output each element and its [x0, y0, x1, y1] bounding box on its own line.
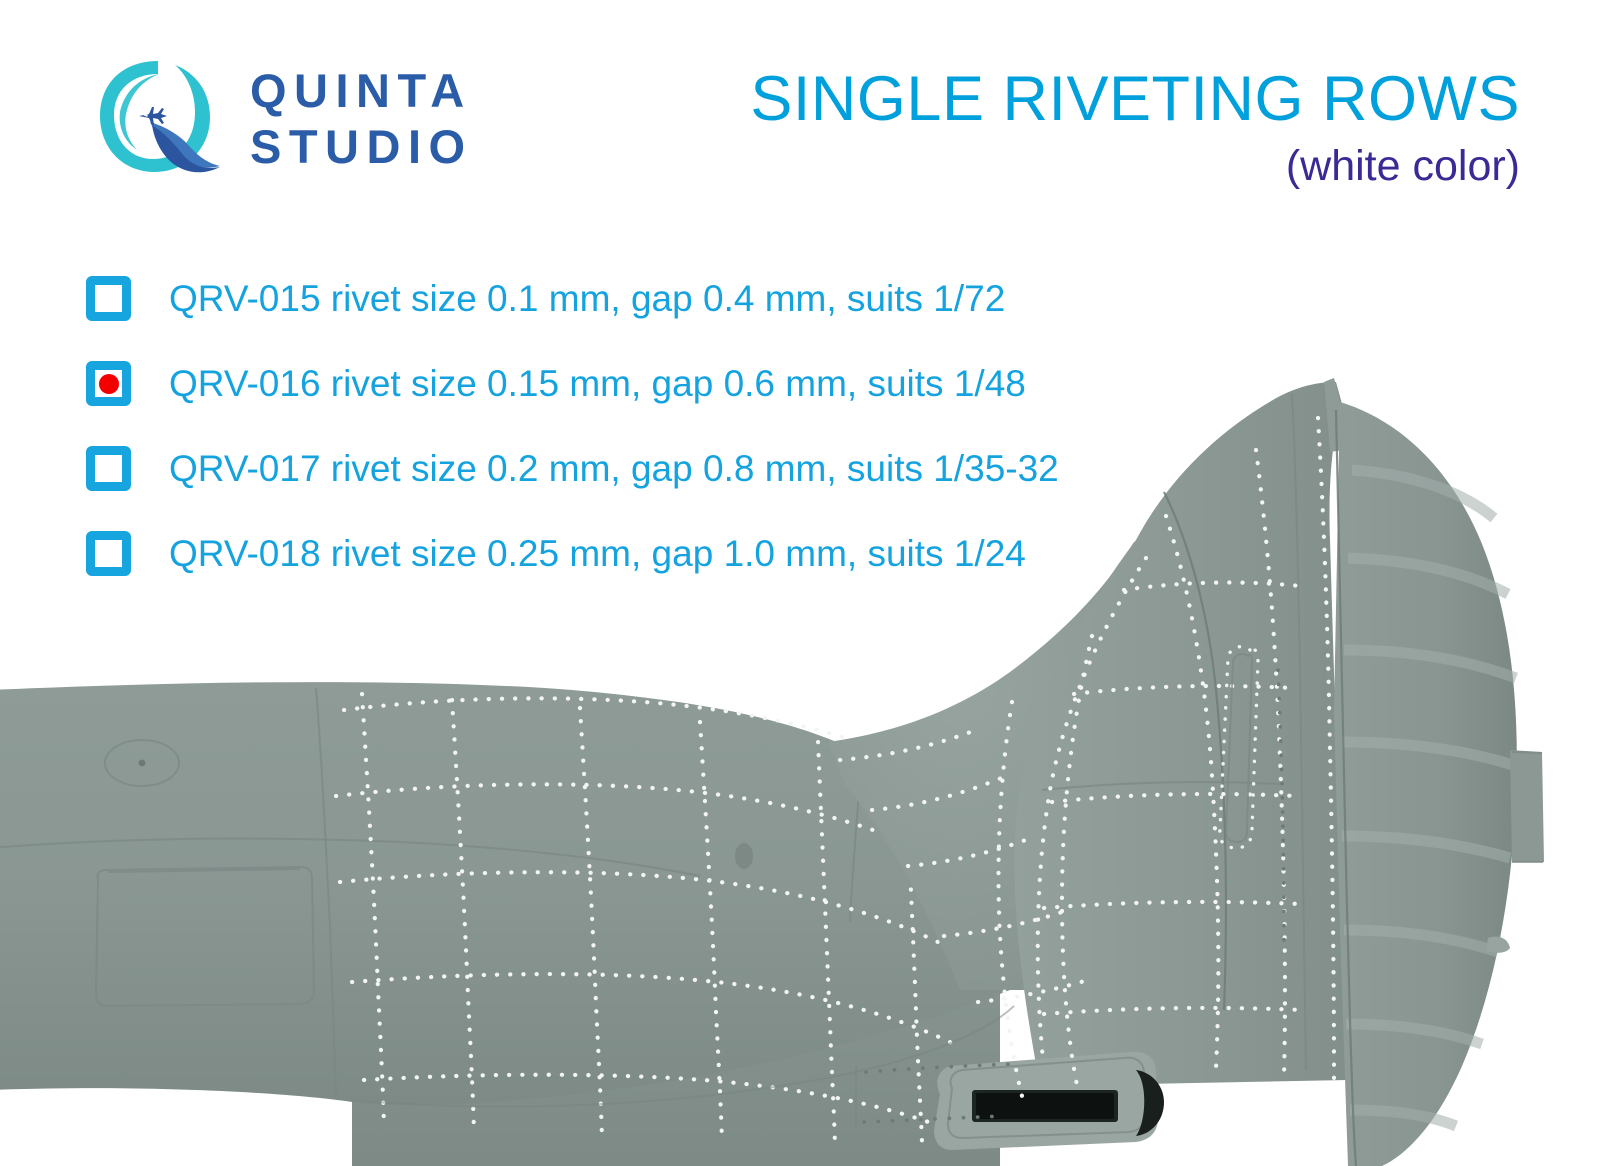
aircraft-tail-photo: .riv { fill: none; stroke: #f2f5f4; stro…	[0, 290, 1600, 1166]
brand-block: QUINTA STUDIO	[92, 52, 473, 184]
rudder	[1334, 402, 1544, 1166]
quinta-q-jet-logo-icon	[92, 52, 224, 184]
vertical-tail-fin	[1014, 382, 1348, 1086]
brand-line-studio: STUDIO	[250, 123, 473, 170]
page-title: SINGLE RIVETING ROWS	[750, 66, 1520, 132]
title-block: SINGLE RIVETING ROWS (white color)	[750, 66, 1520, 191]
brand-line-quinta: QUINTA	[250, 67, 473, 114]
product-label-page: QUINTA STUDIO SINGLE RIVETING ROWS (whit…	[0, 0, 1600, 1166]
header: QUINTA STUDIO SINGLE RIVETING ROWS (whit…	[0, 0, 1600, 230]
brand-wordmark: QUINTA STUDIO	[250, 67, 473, 170]
page-subtitle: (white color)	[750, 142, 1520, 191]
